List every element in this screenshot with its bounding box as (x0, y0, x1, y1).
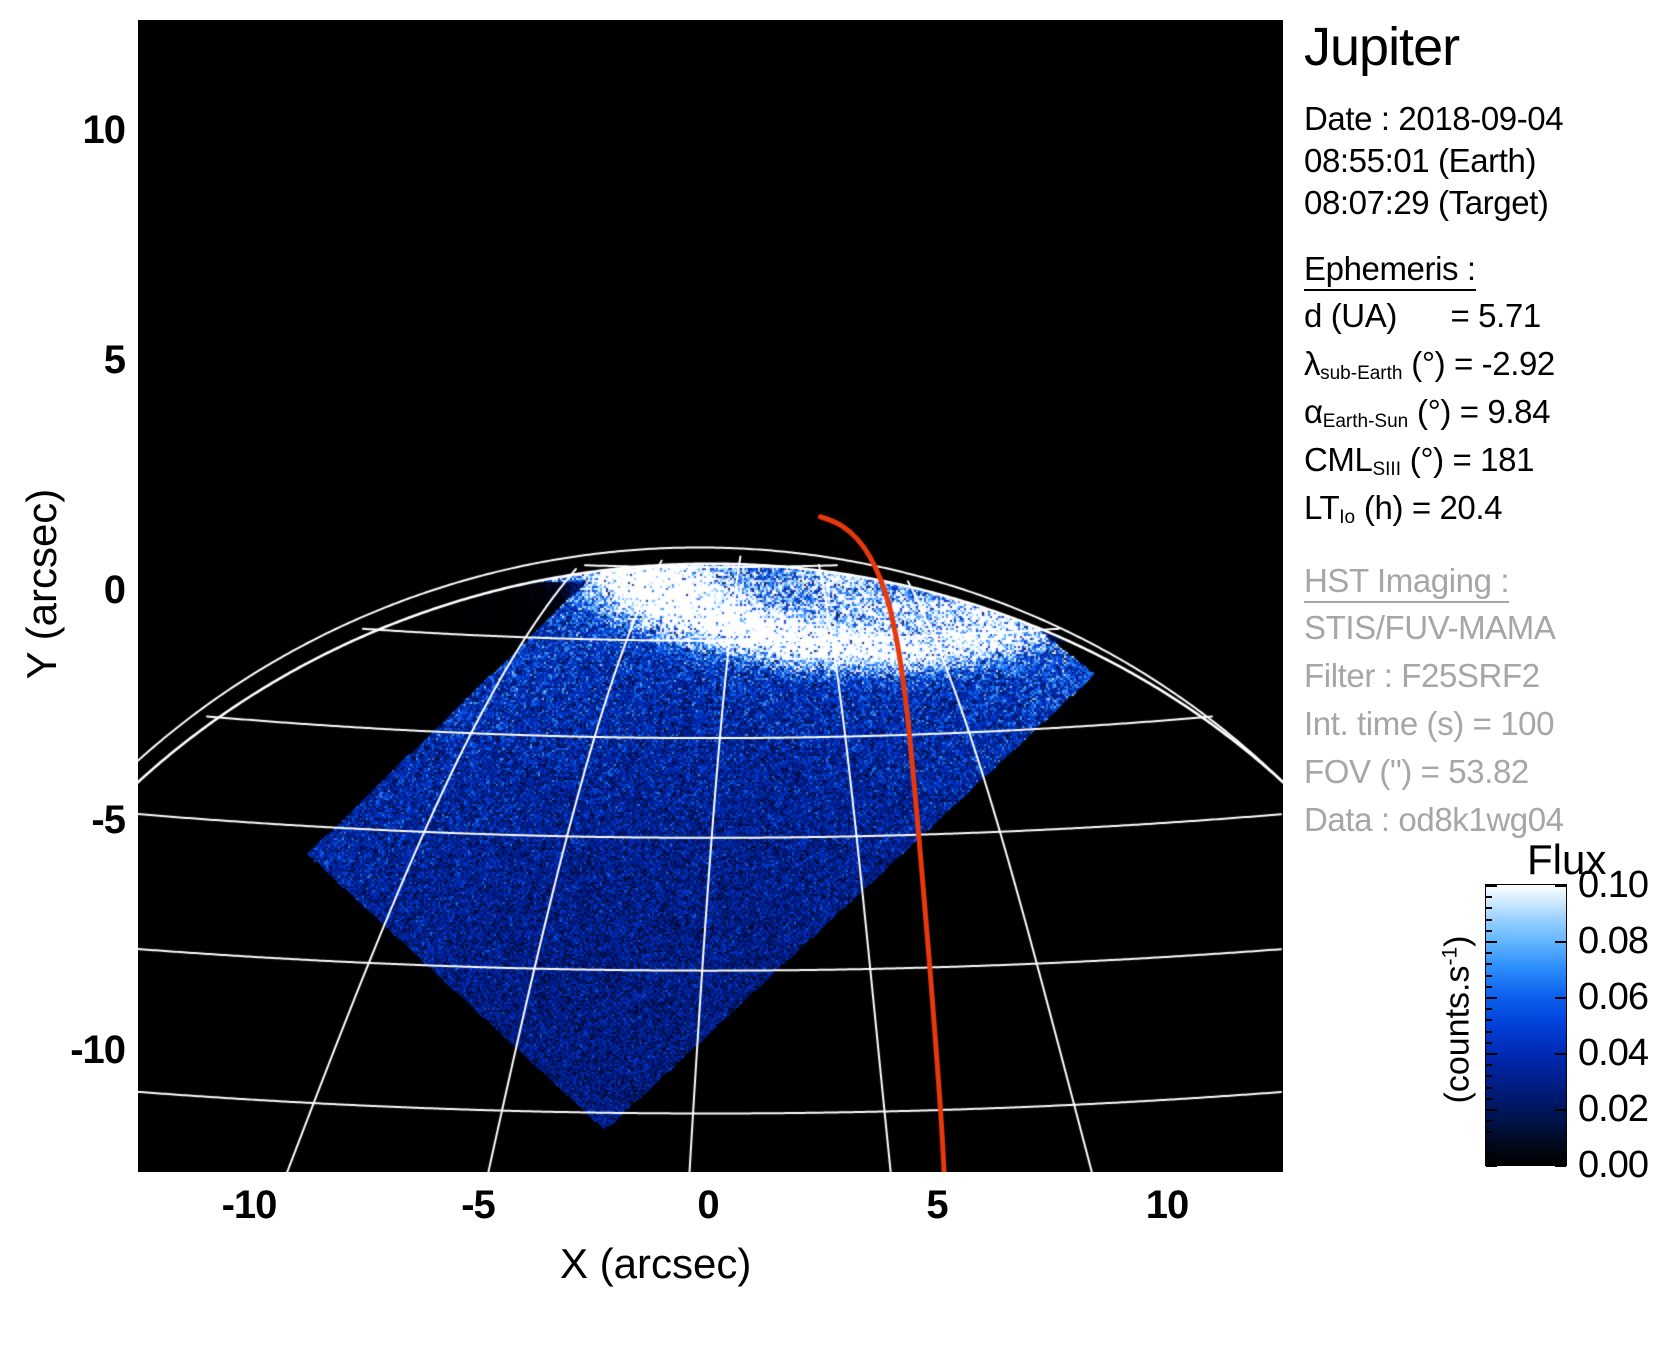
distance-label: d (UA) (1304, 297, 1397, 334)
colorbar-tick-mark (1555, 885, 1566, 887)
alpha-unit: (°) (1417, 393, 1451, 430)
page-title: Jupiter (1304, 16, 1459, 78)
colorbar-minor-tick (1486, 1120, 1492, 1122)
colorbar-minor-tick (1486, 1019, 1492, 1021)
x-tick-label: -10 (179, 1185, 319, 1225)
x-tick-label: 0 (638, 1185, 778, 1225)
colorbar-axis-label: (counts.s-1) (1439, 880, 1478, 1160)
colorbar-tick-label: 0.10 (1578, 866, 1648, 904)
y-tick-label: 10 (5, 110, 125, 150)
colorbar-tick-mark (1486, 885, 1497, 887)
colorbar-tick-mark (1555, 1109, 1566, 1111)
colorbar-minor-tick (1486, 986, 1492, 988)
cml-label: CML (1304, 441, 1372, 478)
hst-imaging-header-text: HST Imaging : (1304, 562, 1509, 603)
colorbar-minor-tick (1486, 1098, 1492, 1100)
cml-value: = 181 (1453, 441, 1535, 478)
colorbar-tick-mark (1486, 1109, 1497, 1111)
observation-time-earth: 08:55:01 (Earth) (1304, 142, 1536, 180)
colorbar-minor-tick (1486, 1143, 1492, 1145)
y-tick-label: -5 (5, 800, 125, 840)
colorbar-unit-text: (counts.s (1439, 966, 1477, 1104)
lambda-subscript: sub-Earth (1320, 363, 1402, 384)
colorbar-tick-mark (1555, 997, 1566, 999)
alpha-symbol: α (1304, 393, 1323, 430)
ephemeris-sub-earth-latitude-row: λsub-Earth (°) = -2.92 (1304, 345, 1555, 385)
hst-filter: Filter : F25SRF2 (1304, 657, 1540, 695)
lambda-unit: (°) (1411, 345, 1445, 382)
colorbar-tick-label: 0.00 (1578, 1146, 1648, 1184)
lt-value: = 20.4 (1412, 489, 1502, 526)
hst-fov: FOV (") = 53.82 (1304, 753, 1529, 791)
cml-unit: (°) (1410, 441, 1444, 478)
colorbar-tick-label: 0.06 (1578, 978, 1648, 1016)
ephemeris-io-local-time-row: LTIo (h) = 20.4 (1304, 489, 1502, 529)
x-tick-label: 5 (867, 1185, 1007, 1225)
ephemeris-cml-row: CMLSIII (°) = 181 (1304, 441, 1534, 481)
x-tick-label: -5 (408, 1185, 548, 1225)
ephemeris-header: Ephemeris : (1304, 250, 1476, 288)
colorbar-gradient (1485, 884, 1567, 1166)
colorbar-unit-close: ) (1439, 936, 1477, 947)
colorbar-tick-label: 0.02 (1578, 1090, 1648, 1128)
colorbar-tick-mark (1555, 1165, 1566, 1167)
x-axis-title: X (arcsec) (560, 1240, 751, 1288)
colorbar-minor-tick (1486, 930, 1492, 932)
jupiter-aurora-image-plot (138, 20, 1283, 1172)
colorbar-minor-tick (1486, 963, 1492, 965)
lt-subscript: Io (1339, 507, 1355, 528)
colorbar-minor-tick (1486, 919, 1492, 921)
y-tick-label: -10 (5, 1030, 125, 1070)
colorbar-tick-mark (1555, 941, 1566, 943)
colorbar-tick-mark (1486, 1165, 1497, 1167)
x-tick-label: 10 (1097, 1185, 1237, 1225)
colorbar-minor-tick (1486, 1042, 1492, 1044)
colorbar-minor-tick (1486, 1131, 1492, 1133)
colorbar-minor-tick (1486, 1064, 1492, 1066)
hst-instrument: STIS/FUV-MAMA (1304, 609, 1556, 647)
lambda-symbol: λ (1304, 345, 1320, 382)
ephemeris-header-text: Ephemeris : (1304, 250, 1476, 291)
colorbar-tick-mark (1486, 941, 1497, 943)
colorbar-tick-mark (1555, 1053, 1566, 1055)
colorbar-tick-label: 0.08 (1578, 922, 1648, 960)
lt-label: LT (1304, 489, 1339, 526)
colorbar-tick-mark (1486, 1053, 1497, 1055)
colorbar-minor-tick (1486, 1154, 1492, 1156)
colorbar-minor-tick (1486, 1087, 1492, 1089)
colorbar-minor-tick (1486, 1075, 1492, 1077)
distance-value: = 5.71 (1451, 297, 1541, 334)
cml-subscript: SIII (1372, 459, 1401, 480)
colorbar-minor-tick (1486, 975, 1492, 977)
colorbar-minor-tick (1486, 907, 1492, 909)
hst-dataset-id: Data : od8k1wg04 (1304, 801, 1564, 839)
hst-integration-time: Int. time (s) = 100 (1304, 705, 1554, 743)
lambda-value: = -2.92 (1454, 345, 1555, 382)
colorbar-tick-mark (1486, 997, 1497, 999)
y-tick-label: 5 (5, 340, 125, 380)
observation-time-target: 08:07:29 (Target) (1304, 184, 1549, 222)
aurora-image-canvas (138, 20, 1283, 1172)
lt-unit: (h) (1364, 489, 1403, 526)
y-axis-title: Y (arcsec) (18, 424, 66, 744)
colorbar-minor-tick (1486, 1008, 1492, 1010)
colorbar-unit-exponent: -1 (1439, 947, 1462, 966)
observation-date: Date : 2018-09-04 (1304, 100, 1563, 138)
colorbar-minor-tick (1486, 1031, 1492, 1033)
colorbar-tick-label: 0.04 (1578, 1034, 1648, 1072)
ephemeris-distance-row: d (UA) = 5.71 (1304, 297, 1541, 335)
alpha-value: = 9.84 (1460, 393, 1550, 430)
colorbar-minor-tick (1486, 952, 1492, 954)
alpha-subscript: Earth-Sun (1323, 411, 1409, 432)
colorbar-minor-tick (1486, 896, 1492, 898)
ephemeris-phase-angle-row: αEarth-Sun (°) = 9.84 (1304, 393, 1550, 433)
hst-imaging-header: HST Imaging : (1304, 562, 1509, 600)
